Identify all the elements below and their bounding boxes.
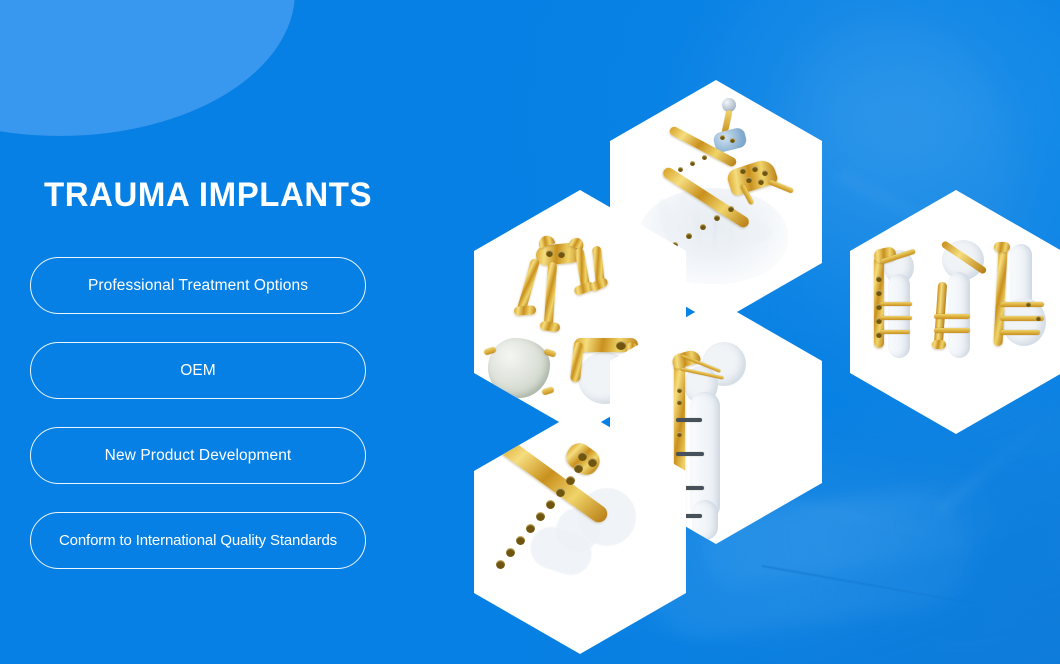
femur-fixation-artwork [850, 190, 1060, 434]
hexagon-proximal-femur-fixation-set[interactable] [850, 190, 1060, 434]
feature-pill-oem[interactable]: OEM [30, 342, 366, 399]
trauma-implants-banner: TRAUMA IMPLANTS Professional Treatment O… [0, 0, 1060, 664]
feature-pill-new-product-development[interactable]: New Product Development [30, 427, 366, 484]
feature-pill-list: Professional Treatment Options OEM New P… [30, 257, 366, 569]
feature-pill-professional-treatment-options[interactable]: Professional Treatment Options [30, 257, 366, 314]
product-hexagon-cluster [432, 58, 1060, 624]
page-title: TRAUMA IMPLANTS [44, 178, 372, 212]
feature-pill-conform-to-international-quality-standards[interactable]: Conform to International Quality Standar… [30, 512, 366, 569]
left-content-column: TRAUMA IMPLANTS Professional Treatment O… [0, 0, 420, 664]
